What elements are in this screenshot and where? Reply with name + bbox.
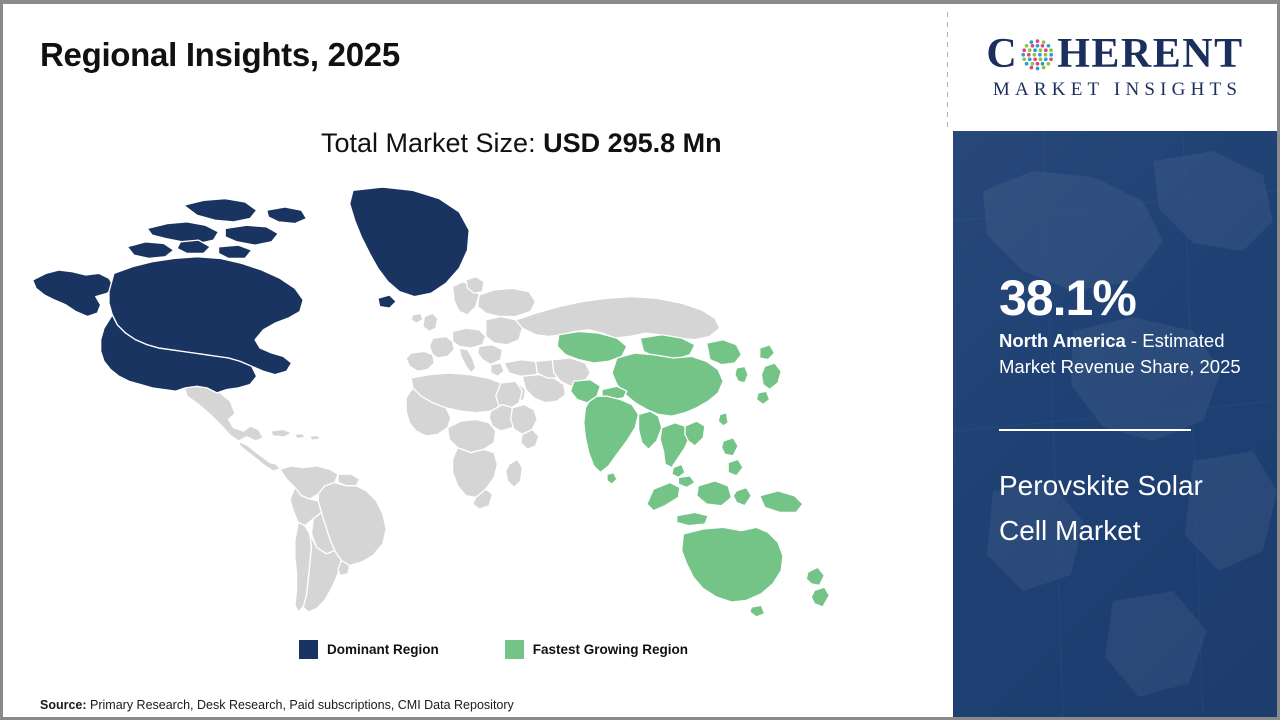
brand-letter-c: C	[986, 33, 1018, 75]
dotted-globe-icon	[1019, 36, 1056, 73]
slide-frame: Regional Insights, 2025 Total Market Siz…	[3, 4, 1277, 717]
brand-letters-herent: HERENT	[1057, 33, 1243, 75]
legend-label-dominant: Dominant Region	[327, 642, 439, 657]
map-legend: Dominant Region Fastest Growing Region	[299, 640, 688, 659]
stat-block: 38.1% North America - Estimated Market R…	[999, 273, 1249, 381]
region-asia-pacific	[557, 331, 829, 617]
legend-label-fastest-growing: Fastest Growing Region	[533, 642, 688, 657]
sidebar-sheen	[953, 131, 1277, 717]
page-title: Regional Insights, 2025	[40, 36, 400, 74]
source-text: Primary Research, Desk Research, Paid su…	[87, 698, 514, 712]
brand-logo-inner: C	[970, 33, 1260, 101]
region-north-america	[33, 187, 470, 393]
market-title: Perovskite Solar Cell Market	[999, 463, 1249, 554]
legend-item-dominant: Dominant Region	[299, 640, 439, 659]
total-market-size-label: Total Market Size:	[321, 128, 543, 158]
vertical-dashed-divider	[947, 12, 948, 130]
brand-logo: C	[953, 4, 1277, 130]
world-map-svg	[21, 182, 851, 622]
brand-name-primary: C	[970, 33, 1260, 75]
legend-swatch-fastest-growing	[505, 640, 524, 659]
total-market-size: Total Market Size: USD 295.8 Mn	[321, 128, 722, 159]
stats-sidebar: 38.1% North America - Estimated Market R…	[953, 131, 1277, 717]
main-content-pane: Regional Insights, 2025 Total Market Siz…	[3, 4, 947, 717]
world-map	[21, 182, 851, 622]
brand-name-secondary: MARKET INSIGHTS	[970, 79, 1260, 101]
source-footer: Source: Primary Research, Desk Research,…	[40, 698, 514, 712]
sidebar-divider	[999, 429, 1191, 431]
stat-description: North America - Estimated Market Revenue…	[999, 328, 1249, 381]
legend-item-fastest-growing: Fastest Growing Region	[505, 640, 688, 659]
legend-swatch-dominant	[299, 640, 318, 659]
stat-region-name: North America	[999, 330, 1126, 351]
stat-percentage: 38.1%	[999, 273, 1249, 324]
source-label: Source:	[40, 698, 87, 712]
total-market-size-value: USD 295.8 Mn	[543, 128, 722, 158]
